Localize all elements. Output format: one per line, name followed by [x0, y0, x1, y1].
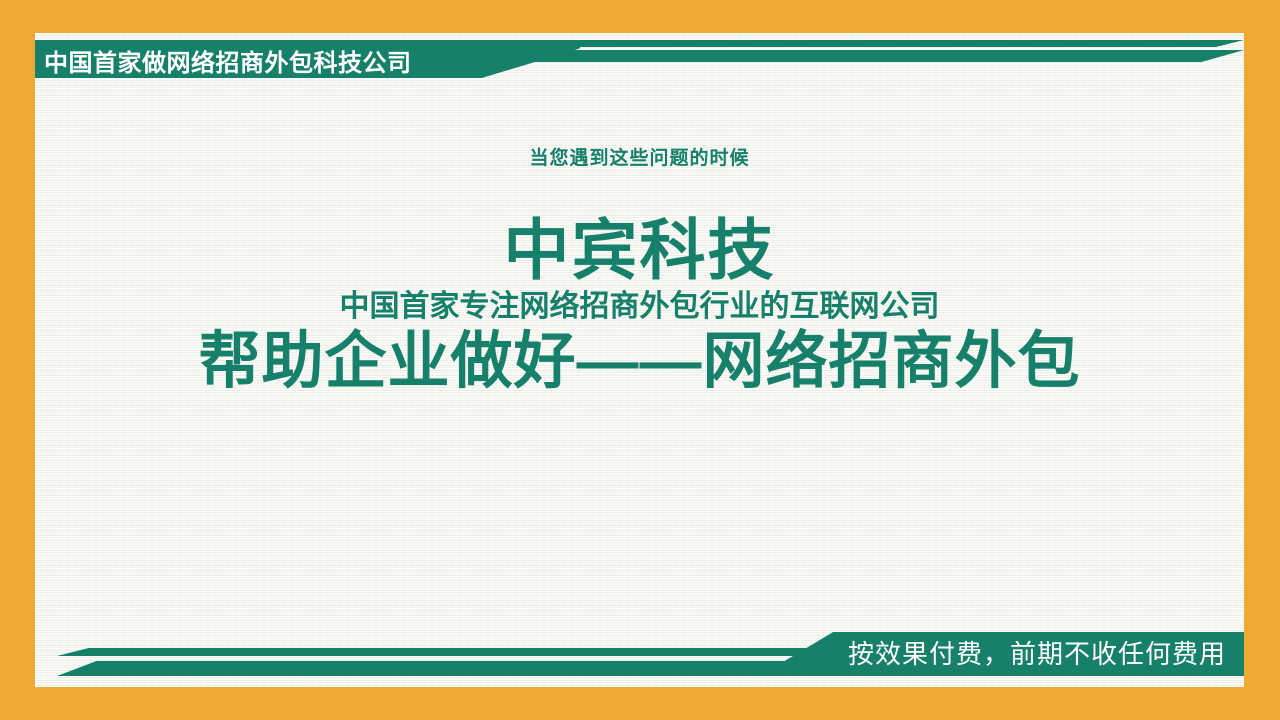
footer-accent-line-top [57, 648, 847, 656]
footer-slogan: 按效果付费，前期不收任何费用 [848, 634, 1226, 671]
brand-name: 中宾科技 [35, 216, 1244, 285]
main-content: 当您遇到这些问题的时候 中宾科技 中国首家专注网络招商外包行业的互联网公司 帮助… [35, 143, 1244, 396]
eyebrow-text: 当您遇到这些问题的时候 [35, 143, 1244, 170]
slide-canvas: 中国首家做网络招商外包科技公司 当您遇到这些问题的时候 中宾科技 中国首家专注网… [35, 33, 1244, 687]
slide: 中国首家做网络招商外包科技公司 当您遇到这些问题的时候 中宾科技 中国首家专注网… [0, 0, 1280, 720]
header-title: 中国首家做网络招商外包科技公司 [44, 45, 412, 75]
header-accent-line-top [535, 40, 1244, 47]
footer-accent-line-bottom [57, 661, 847, 676]
header-accent-line-bottom [535, 50, 1244, 62]
company-subtitle: 中国首家专注网络招商外包行业的互联网公司 [35, 281, 1244, 325]
main-tagline: 帮助企业做好——网络招商外包 [35, 327, 1244, 396]
